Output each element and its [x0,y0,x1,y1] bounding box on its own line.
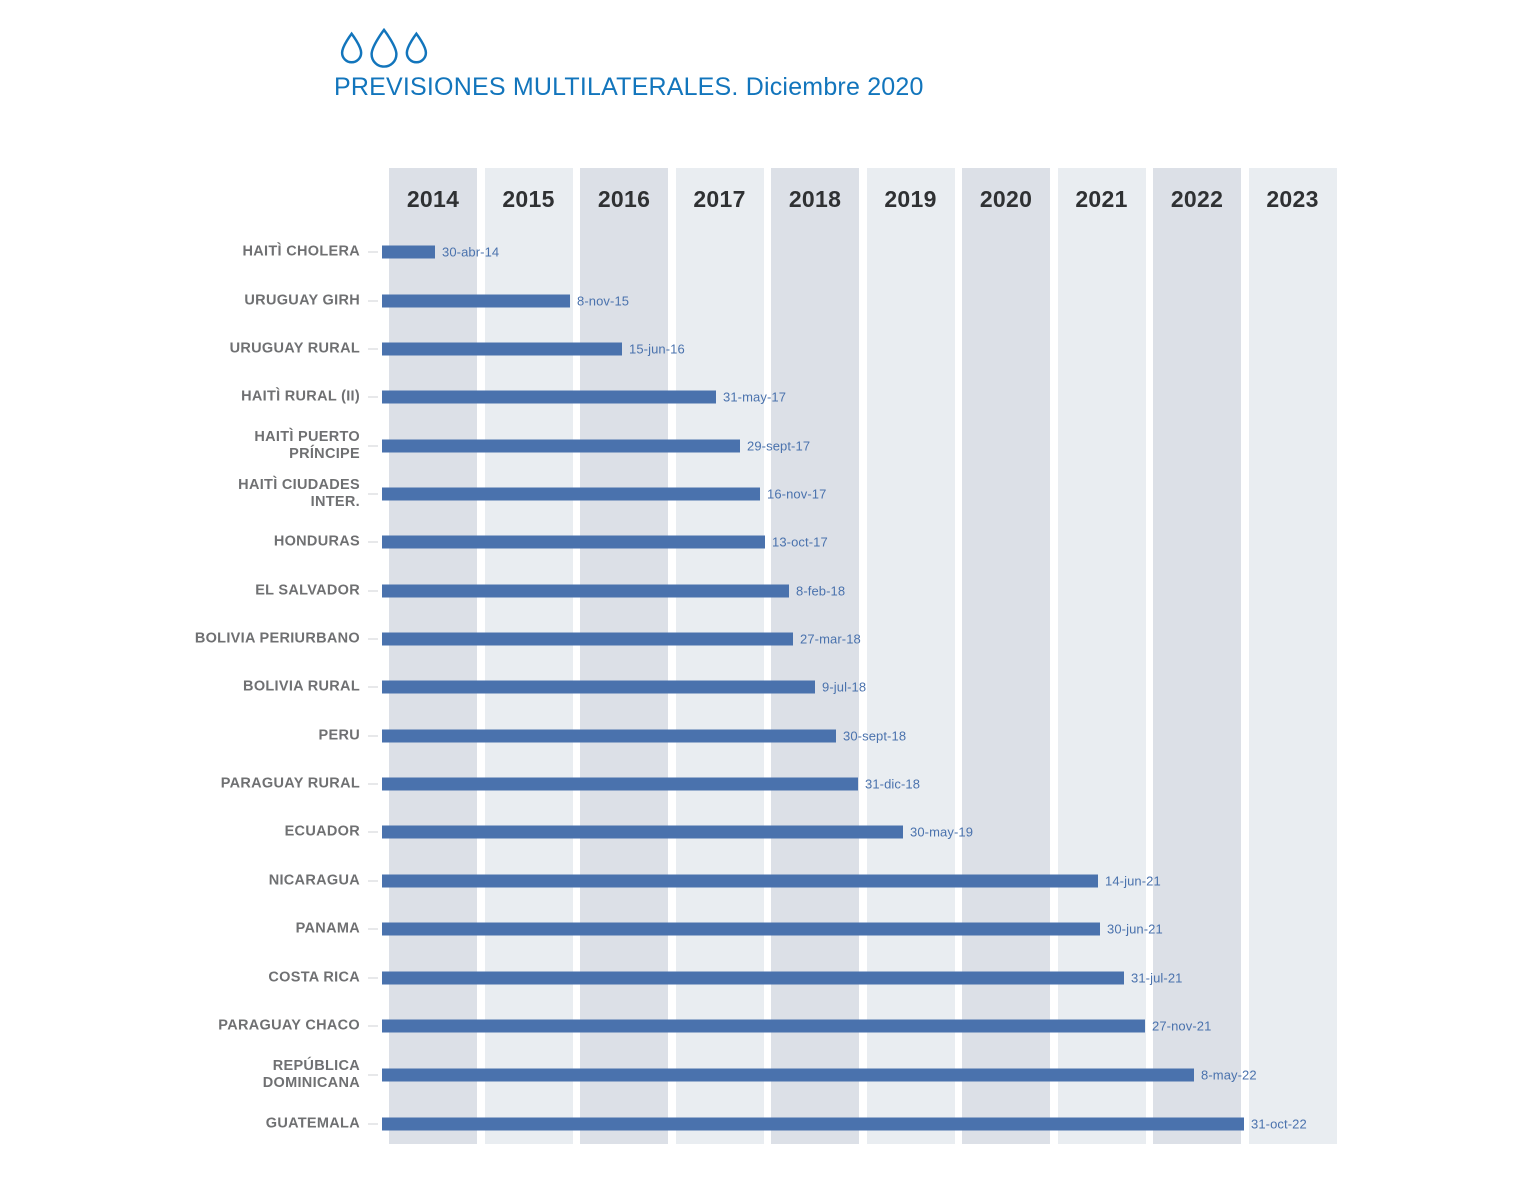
leader-line [368,736,378,737]
timeline-bar[interactable] [382,826,903,839]
row-label: HAITÌ PUERTOPRÍNCIPE [80,429,360,463]
bar-end-date-label: 30-jun-21 [1107,922,1163,937]
leader-line [368,349,378,350]
leader-line [368,978,378,979]
row-label: BOLIVIA PERIURBANO [80,631,360,648]
row-label: PANAMA [80,921,360,938]
bar-end-date-label: 16-nov-17 [767,487,826,502]
leader-line [368,1026,378,1027]
chart-row: HAITÌ RURAL (II)31-may-17 [0,382,1536,412]
bar-end-date-label: 27-nov-21 [1152,1019,1211,1034]
chart-row: BOLIVIA PERIURBANO27-mar-18 [0,624,1536,654]
chart-row: PARAGUAY RURAL31-dic-18 [0,769,1536,799]
bar-end-date-label: 31-jul-21 [1131,971,1183,986]
chart-row: NICARAGUA14-jun-21 [0,866,1536,896]
bar-end-date-label: 9-jul-18 [822,680,866,695]
timeline-bar[interactable] [382,633,793,646]
timeline-bar[interactable] [382,730,836,743]
timeline-bar[interactable] [382,585,789,598]
timeline-bar[interactable] [382,536,765,549]
leader-line [368,687,378,688]
row-label: HAITÌ CHOLERA [80,244,360,261]
chart-row: PERU30-sept-18 [0,721,1536,751]
row-label: REPÚBLICADOMINICANA [80,1058,360,1092]
timeline-bar[interactable] [382,343,622,356]
leader-line [368,832,378,833]
leader-line [368,1124,378,1125]
row-label: PARAGUAY RURAL [80,776,360,793]
bar-end-date-label: 30-may-19 [910,825,973,840]
bar-end-date-label: 8-feb-18 [796,584,845,599]
leader-line [368,784,378,785]
row-label: BOLIVIA RURAL [80,679,360,696]
gantt-chart: 2014201520162017201820192020202120222023… [0,0,1536,1191]
bar-end-date-label: 8-nov-15 [577,294,629,309]
row-label: HAITÌ RURAL (II) [80,389,360,406]
chart-row: COSTA RICA31-jul-21 [0,963,1536,993]
bar-end-date-label: 15-jun-16 [629,342,685,357]
leader-line [368,252,378,253]
timeline-bar[interactable] [382,246,435,259]
timeline-bar[interactable] [382,391,716,404]
timeline-bar[interactable] [382,295,570,308]
bar-end-date-label: 30-sept-18 [843,729,906,744]
timeline-bar[interactable] [382,440,740,453]
row-label: URUGUAY GIRH [80,293,360,310]
bar-end-date-label: 31-may-17 [723,390,786,405]
chart-row: BOLIVIA RURAL9-jul-18 [0,672,1536,702]
chart-row: HONDURAS13-oct-17 [0,527,1536,557]
chart-row: HAITÌ CHOLERA30-abr-14 [0,237,1536,267]
bar-end-date-label: 13-oct-17 [772,535,828,550]
chart-row: PARAGUAY CHACO27-nov-21 [0,1011,1536,1041]
timeline-bar[interactable] [382,972,1124,985]
row-label: NICARAGUA [80,873,360,890]
timeline-bar[interactable] [382,1118,1244,1131]
bar-end-date-label: 27-mar-18 [800,632,861,647]
bar-end-date-label: 29-sept-17 [747,439,810,454]
leader-line [368,881,378,882]
leader-line [368,301,378,302]
leader-line [368,446,378,447]
bar-end-date-label: 31-oct-22 [1251,1117,1307,1132]
chart-row: HAITÌ CIUDADESINTER.16-nov-17 [0,479,1536,509]
bar-end-date-label: 31-dic-18 [865,777,920,792]
timeline-bar[interactable] [382,1020,1145,1033]
row-label: URUGUAY RURAL [80,341,360,358]
bar-end-date-label: 30-abr-14 [442,245,499,260]
timeline-bar[interactable] [382,923,1100,936]
timeline-bar[interactable] [382,875,1098,888]
leader-line [368,1075,378,1076]
row-label: COSTA RICA [80,970,360,987]
timeline-bar[interactable] [382,681,815,694]
row-label: ECUADOR [80,824,360,841]
leader-line [368,929,378,930]
row-label: HAITÌ CIUDADESINTER. [80,477,360,511]
chart-row: HAITÌ PUERTOPRÍNCIPE29-sept-17 [0,431,1536,461]
timeline-bar[interactable] [382,778,858,791]
bar-end-date-label: 14-jun-21 [1105,874,1161,889]
leader-line [368,639,378,640]
chart-row: GUATEMALA31-oct-22 [0,1109,1536,1139]
row-label: PERU [80,728,360,745]
leader-line [368,542,378,543]
chart-rows: HAITÌ CHOLERA30-abr-14URUGUAY GIRH8-nov-… [0,0,1536,1191]
row-label: GUATEMALA [80,1116,360,1133]
chart-row: REPÚBLICADOMINICANA8-may-22 [0,1060,1536,1090]
leader-line [368,397,378,398]
chart-row: URUGUAY GIRH8-nov-15 [0,286,1536,316]
chart-row: URUGUAY RURAL15-jun-16 [0,334,1536,364]
chart-row: EL SALVADOR8-feb-18 [0,576,1536,606]
timeline-bar[interactable] [382,488,760,501]
chart-row: ECUADOR30-may-19 [0,817,1536,847]
bar-end-date-label: 8-may-22 [1201,1068,1257,1083]
leader-line [368,494,378,495]
timeline-bar[interactable] [382,1069,1194,1082]
row-label: EL SALVADOR [80,583,360,600]
chart-row: PANAMA30-jun-21 [0,914,1536,944]
row-label: HONDURAS [80,534,360,551]
row-label: PARAGUAY CHACO [80,1018,360,1035]
leader-line [368,591,378,592]
